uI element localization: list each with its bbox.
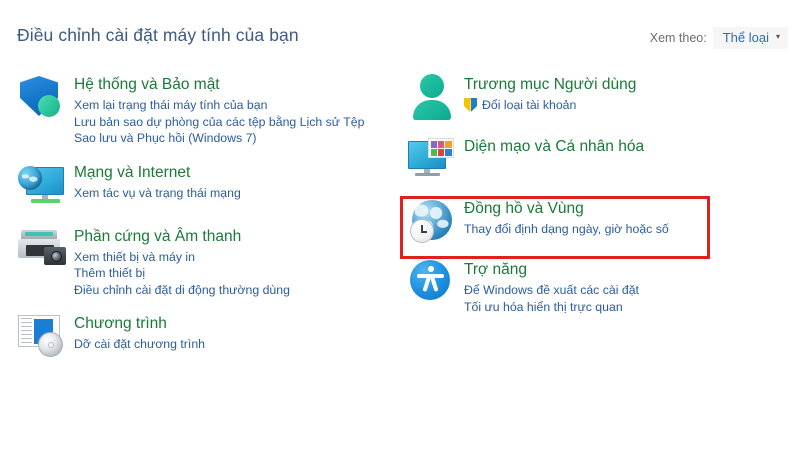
category-text: Hệ thống và Bảo mật Xem lại trạng thái m… (74, 72, 364, 147)
user-account-icon (404, 72, 460, 124)
category-link[interactable]: Để Windows đề xuất các cài đặt (464, 282, 639, 299)
view-by-control: Xem theo: Thể loại ▾ (650, 27, 788, 49)
category-title[interactable]: Trương mục Người dùng (464, 75, 636, 94)
programs-disc-icon (14, 311, 70, 363)
uac-shield-icon (464, 98, 477, 112)
category-text: Chương trình Dỡ cài đặt chương trình (74, 311, 205, 353)
category-title[interactable]: Diện mạo và Cá nhân hóa (464, 137, 644, 156)
category-text: Trợ năng Để Windows đề xuất các cài đặt … (464, 257, 639, 315)
control-panel-page: Điều chỉnh cài đặt máy tính của bạn Xem … (0, 0, 800, 450)
appearance-monitor-icon (404, 134, 460, 186)
category-title[interactable]: Trợ năng (464, 260, 639, 279)
color-tiles (428, 138, 454, 158)
category-link-label: Đổi loại tài khoản (482, 97, 576, 114)
network-monitor-icon (14, 160, 70, 212)
view-by-label: Xem theo: (650, 31, 707, 45)
category-link[interactable]: Thêm thiết bị (74, 265, 290, 282)
category-hardware-sound[interactable]: Phần cứng và Âm thanh Xem thiết bị và má… (14, 224, 406, 299)
view-by-dropdown[interactable]: Thể loại ▾ (713, 27, 788, 49)
category-title[interactable]: Mạng và Internet (74, 163, 241, 182)
category-link[interactable]: Sao lưu và Phục hồi (Windows 7) (74, 130, 364, 147)
category-link[interactable]: Dỡ cài đặt chương trình (74, 336, 205, 353)
category-link[interactable]: Xem tác vụ và trạng thái mạng (74, 185, 241, 202)
category-link[interactable]: Xem lại trạng thái máy tính của bạn (74, 97, 364, 114)
category-text: Trương mục Người dùng Đổi loại tài khoản (464, 72, 636, 114)
page-header: Điều chỉnh cài đặt máy tính của bạn Xem … (0, 0, 800, 62)
printer-camera-icon (14, 224, 70, 276)
category-title[interactable]: Phần cứng và Âm thanh (74, 227, 290, 246)
category-title[interactable]: Chương trình (74, 314, 205, 333)
category-link[interactable]: Lưu bản sao dự phòng của các tệp bằng Lị… (74, 114, 364, 131)
category-network-internet[interactable]: Mạng và Internet Xem tác vụ và trạng thá… (14, 160, 406, 212)
category-text: Đồng hồ và Vùng Thay đổi định dạng ngày,… (464, 196, 669, 238)
category-link[interactable]: Đổi loại tài khoản (464, 97, 636, 114)
category-system-security[interactable]: Hệ thống và Bảo mật Xem lại trạng thái m… (14, 72, 406, 147)
category-title[interactable]: Hệ thống và Bảo mật (74, 75, 364, 94)
clock-globe-icon (404, 196, 460, 248)
category-ease-of-access[interactable]: Trợ năng Để Windows đề xuất các cài đặt … (404, 257, 796, 315)
category-clock-region[interactable]: Đồng hồ và Vùng Thay đổi định dạng ngày,… (404, 196, 796, 248)
category-appearance-personalization[interactable]: Diện mạo và Cá nhân hóa (404, 134, 796, 186)
category-title[interactable]: Đồng hồ và Vùng (464, 199, 669, 218)
left-category-column: Hệ thống và Bảo mật Xem lại trạng thái m… (14, 72, 406, 363)
category-link[interactable]: Tối ưu hóa hiển thị trực quan (464, 299, 639, 316)
page-title: Điều chỉnh cài đặt máy tính của bạn (17, 25, 299, 46)
category-text: Diện mạo và Cá nhân hóa (464, 134, 644, 159)
category-text: Phần cứng và Âm thanh Xem thiết bị và má… (74, 224, 290, 299)
category-text: Mạng và Internet Xem tác vụ và trạng thá… (74, 160, 241, 202)
shield-icon (14, 72, 70, 124)
right-category-column: Trương mục Người dùng Đổi loại tài khoản (404, 72, 796, 315)
category-link[interactable]: Thay đổi định dạng ngày, giờ hoặc số (464, 221, 669, 238)
category-link[interactable]: Điều chỉnh cài đặt di động thường dùng (74, 282, 290, 299)
category-user-accounts[interactable]: Trương mục Người dùng Đổi loại tài khoản (404, 72, 796, 124)
category-programs[interactable]: Chương trình Dỡ cài đặt chương trình (14, 311, 406, 363)
category-link[interactable]: Xem thiết bị và máy in (74, 249, 290, 266)
view-by-value: Thể loại (723, 30, 769, 45)
ease-of-access-icon (404, 257, 460, 309)
chevron-down-icon: ▾ (776, 33, 780, 41)
